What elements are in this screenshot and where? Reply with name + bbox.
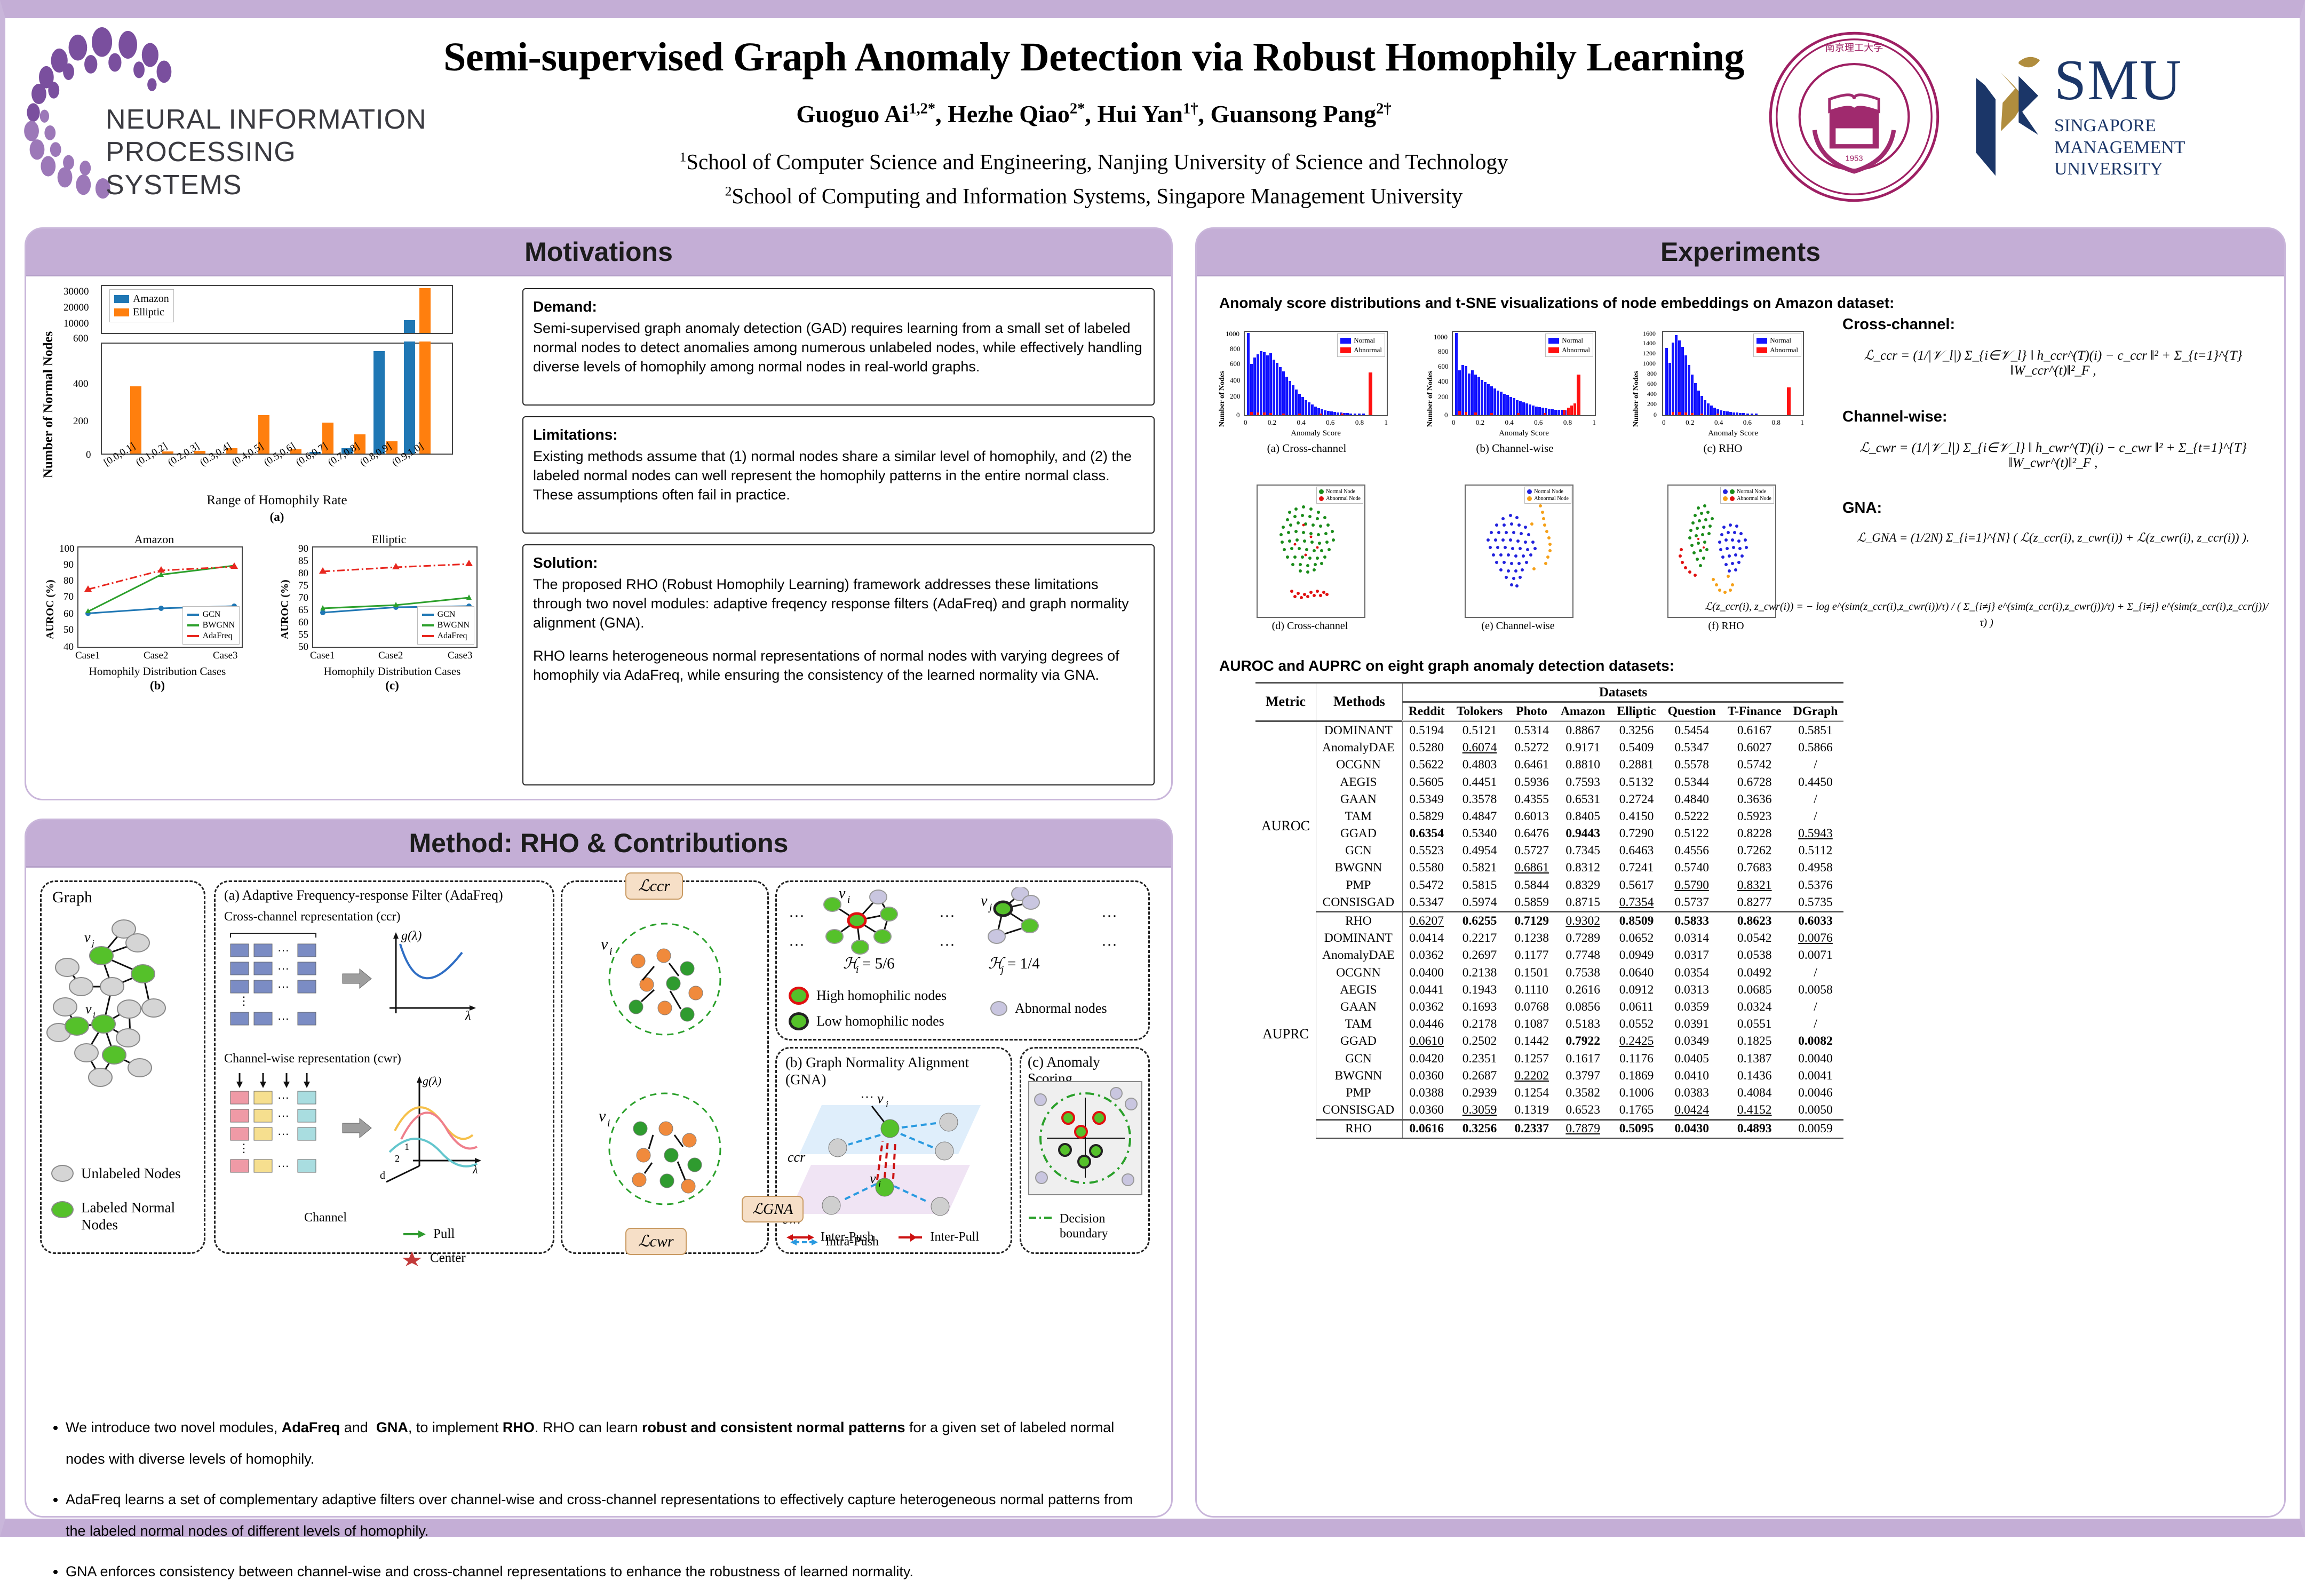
note-demand-heading: Demand: xyxy=(533,297,1144,316)
th-tolokers: Tolokers xyxy=(1451,702,1509,721)
amazon-xtick-1: Case2 xyxy=(144,650,168,662)
table-cell: 0.7922 xyxy=(1555,1033,1611,1050)
table-cell: 0.0360 xyxy=(1402,1102,1450,1120)
svg-text:1: 1 xyxy=(404,1141,409,1152)
svg-text:j: j xyxy=(91,938,94,948)
th-photo: Photo xyxy=(1508,702,1555,721)
bar-lower-axes xyxy=(101,343,453,455)
amazon-caption: (b) xyxy=(67,679,248,693)
table-row: GAAN0.03620.16930.07680.08560.06110.0359… xyxy=(1255,998,1843,1015)
table-cell: 0.7748 xyxy=(1555,947,1611,964)
table-cell: 0.7683 xyxy=(1722,860,1787,877)
table-cell: 0.7593 xyxy=(1555,774,1611,791)
table-cell: 0.0046 xyxy=(1787,1084,1844,1101)
note-limitations-body: Existing methods assume that (1) normal … xyxy=(533,447,1144,505)
table-cell: 0.9171 xyxy=(1555,740,1611,757)
th-question: Question xyxy=(1662,702,1722,721)
table-cell: 0.0071 xyxy=(1787,947,1844,964)
svg-text:v: v xyxy=(870,1171,876,1186)
cwr-matrix-icon: ······ ······ ⋮ xyxy=(226,1072,333,1189)
table-row: GCN0.04200.23510.12570.16170.11760.04050… xyxy=(1255,1050,1843,1067)
gna-illustration: ccr cwr ··· v i v i xyxy=(780,1092,1010,1236)
table-cell: 0.8810 xyxy=(1555,757,1611,774)
table-cell: 0.3797 xyxy=(1555,1067,1611,1084)
table-metric-cell: AUPRC xyxy=(1255,930,1316,1139)
table-cell: 0.8329 xyxy=(1555,877,1611,894)
loss-ccr-badge: ℒccr xyxy=(625,872,683,900)
table-method-name: TAM xyxy=(1316,1016,1403,1033)
table-cell: 0.0430 xyxy=(1662,1119,1722,1138)
chart-tsne-channel-wise: Normal Node Abnormal Node xyxy=(1465,485,1573,618)
legend-item-elliptic: Elliptic xyxy=(114,306,169,319)
hist-b-legend: Normal Abnormal xyxy=(1545,334,1593,357)
pull-arrow-icon xyxy=(402,1227,427,1241)
table-cell: 0.8321 xyxy=(1722,877,1787,894)
table-cell: / xyxy=(1787,998,1844,1015)
table-cell: 0.5844 xyxy=(1508,877,1555,894)
table-cell: / xyxy=(1787,808,1844,825)
table-cell: 0.0388 xyxy=(1402,1084,1450,1101)
hist-c-ytick-1600: 1600 xyxy=(1643,330,1656,338)
table-cell: 0.0059 xyxy=(1787,1119,1844,1138)
elliptic-ytick-60: 60 xyxy=(298,617,308,629)
table-cell: 0.0420 xyxy=(1402,1050,1450,1067)
svg-text:···: ··· xyxy=(939,935,955,953)
table-cell: / xyxy=(1787,791,1844,808)
table-method-name: TAM xyxy=(1316,808,1403,825)
table-cell: 0.5617 xyxy=(1611,877,1662,894)
institution-logos: 1953 南京理工大学 SMU SINGAPORE MANAGEMENT UNI… xyxy=(1755,26,2289,207)
table-cell: 0.7290 xyxy=(1611,825,1662,843)
elliptic-ytick-55: 55 xyxy=(298,629,308,641)
table-cell: 0.6167 xyxy=(1722,721,1787,739)
hist-c-ytick-1400: 1400 xyxy=(1643,339,1656,347)
svg-text:···: ··· xyxy=(1101,935,1117,953)
table-cell: / xyxy=(1787,964,1844,981)
hist-c-ytick-1000: 1000 xyxy=(1643,360,1656,368)
table-cell: 0.3256 xyxy=(1451,1119,1509,1138)
table-cell: 0.0383 xyxy=(1662,1084,1722,1101)
table-row: RHO0.06160.32560.23370.78790.50950.04300… xyxy=(1255,1119,1843,1138)
cwr-filter-plot: g(λ) λ 1 2 d xyxy=(379,1072,486,1184)
table-method-name: BWGNN xyxy=(1316,1067,1403,1084)
eq-ccr: ℒ_ccr = (1/|𝒱_l|) Σ_{i∈𝒱_l} ‖ h_ccr^(T)(… xyxy=(1842,347,2264,378)
chart-amazon-auroc: Amazon AUROC (%) GCN xyxy=(42,533,266,693)
legend-labeled-nodes: Labeled Normal Nodes xyxy=(51,1199,188,1234)
elliptic-xtick-1: Case2 xyxy=(378,650,403,662)
experiments-subtitle-table: AUROC and AUPRC on eight graph anomaly d… xyxy=(1219,657,1674,674)
hist-b-ytick-400: 400 xyxy=(1438,377,1449,386)
hist-b-xlabel: Anomaly Score xyxy=(1452,429,1596,438)
hist-c-ylabel: Number of Nodes xyxy=(1632,371,1641,427)
svg-text:g(λ): g(λ) xyxy=(423,1074,441,1087)
contribution-item-2: AdaFreq learns a set of complementary ad… xyxy=(66,1484,1147,1547)
table-cell: 0.2217 xyxy=(1451,930,1509,947)
table-cell: 0.5605 xyxy=(1402,774,1450,791)
table-cell: 0.7262 xyxy=(1722,843,1787,860)
arrow-right-icon-1 xyxy=(341,967,373,989)
table-cell: 0.0611 xyxy=(1611,998,1662,1015)
table-cell: 0.0912 xyxy=(1611,981,1662,998)
panel-motivations-title: Motivations xyxy=(26,229,1171,276)
table-cell: 0.8277 xyxy=(1722,894,1787,912)
elliptic-ytick-75: 75 xyxy=(298,580,308,592)
table-metric-cell: AUROC xyxy=(1255,721,1316,930)
table-cell: 0.8715 xyxy=(1555,894,1611,912)
svg-text:v: v xyxy=(601,935,608,953)
contribution-item-3: GNA enforces consistency between channel… xyxy=(66,1556,1147,1587)
legend-center: Center xyxy=(402,1250,466,1266)
table-method-name: CONSISGAD xyxy=(1316,894,1403,912)
table-row: BWGNN0.55800.58210.68610.83120.72410.574… xyxy=(1255,860,1843,877)
note-limitations: Limitations: Existing methods assume tha… xyxy=(522,416,1155,534)
table-cell: 0.9443 xyxy=(1555,825,1611,843)
legend-item-adafreq-e: AdaFreq xyxy=(422,631,470,641)
table-cell: 0.6523 xyxy=(1555,1102,1611,1120)
table-body: AUROCDOMINANT0.51940.51210.53140.88670.3… xyxy=(1255,721,1843,1138)
th-datasets-group: Datasets xyxy=(1402,683,1843,702)
th-amazon: Amazon xyxy=(1555,702,1611,721)
svg-text:···: ··· xyxy=(277,1127,289,1140)
legend-tsne-normal-d: Normal Node xyxy=(1319,489,1361,495)
elliptic-y-label: AUROC (%) xyxy=(279,579,291,639)
table-cell: 0.2724 xyxy=(1611,791,1662,808)
chart-homophily-histogram: Number of Normal Nodes Amazon Elliptic 3… xyxy=(38,280,486,530)
svg-text:···: ··· xyxy=(277,962,289,975)
chart-tsne-rho: Normal Node Abnormal Node xyxy=(1667,485,1776,618)
table-cell: 0.1617 xyxy=(1555,1050,1611,1067)
table-cell: 0.1238 xyxy=(1508,930,1555,947)
svg-text:d: d xyxy=(380,1170,385,1181)
table-cell: 0.0354 xyxy=(1662,964,1722,981)
contributions-list: We introduce two novel modules, AdaFreq … xyxy=(47,1412,1147,1596)
svg-text:···: ··· xyxy=(789,935,805,953)
table-cell: 0.1693 xyxy=(1451,998,1509,1015)
diagram-scoring-box: (c) Anomaly Scoring xyxy=(1020,1047,1150,1254)
ccr-plane-label: ccr xyxy=(788,1149,806,1165)
table-row: AUPRCDOMINANT0.04140.22170.12380.72890.0… xyxy=(1255,930,1843,947)
amazon-chart-title: Amazon xyxy=(42,533,266,546)
hist-a-ytick-600: 600 xyxy=(1230,360,1241,368)
table-cell: 0.1257 xyxy=(1508,1050,1555,1067)
table-method-name: CONSISGAD xyxy=(1316,1102,1403,1120)
table-cell: 0.5523 xyxy=(1402,843,1450,860)
table-cell: 0.8867 xyxy=(1555,721,1611,739)
homophily-examples: ······ ······ ······ xyxy=(779,887,1147,983)
table-cell: 0.8312 xyxy=(1555,860,1611,877)
svg-text:···: ··· xyxy=(277,980,289,993)
table-row: GCN0.55230.49540.57270.73450.64630.45560… xyxy=(1255,843,1843,860)
svg-text:⋮: ⋮ xyxy=(238,994,250,1007)
table-cell: 0.5829 xyxy=(1402,808,1450,825)
table-cell: 0.5272 xyxy=(1508,740,1555,757)
table-cell: 0.3636 xyxy=(1722,791,1787,808)
table-cell: 0.5314 xyxy=(1508,721,1555,739)
tsne-f-legend: Normal Node Abnormal Node xyxy=(1720,487,1774,504)
smu-wordmark: SMU SINGAPORE MANAGEMENT UNIVERSITY xyxy=(2054,52,2289,180)
svg-text:1953: 1953 xyxy=(1845,155,1863,163)
legend-item-bwgnn-e: BWGNN xyxy=(422,621,470,630)
hist-b-ytick-1000: 1000 xyxy=(1434,333,1448,342)
svg-text:i: i xyxy=(609,946,613,957)
table-cell: 0.0552 xyxy=(1611,1016,1662,1033)
graph-box-title: Graph xyxy=(52,888,92,907)
hist-b-ytick-200: 200 xyxy=(1438,393,1449,401)
svg-text:λ: λ xyxy=(472,1163,478,1176)
th-reddit: Reddit xyxy=(1402,702,1450,721)
svg-text:v: v xyxy=(981,893,988,909)
table-cell: 0.0317 xyxy=(1662,947,1722,964)
table-row: CONSISGAD0.53470.59740.58590.87150.73540… xyxy=(1255,894,1843,912)
table-row: AEGIS0.56050.44510.59360.75930.51320.534… xyxy=(1255,774,1843,791)
hist-c-caption: (c) RHO xyxy=(1632,442,1814,455)
table-row: PMP0.03880.29390.12540.35820.10060.03830… xyxy=(1255,1084,1843,1101)
elliptic-ytick-85: 85 xyxy=(298,555,308,567)
table-cell: 0.1943 xyxy=(1451,981,1509,998)
table-cell: 0.6074 xyxy=(1451,740,1509,757)
table-cell: 0.5740 xyxy=(1662,860,1722,877)
table-method-name: OCGNN xyxy=(1316,964,1403,981)
neurips-logo-text: NEURAL INFORMATION PROCESSING SYSTEMS xyxy=(106,104,431,202)
table-cell: 0.5735 xyxy=(1787,894,1844,912)
legend-abnormal-nodes: Abnormal nodes xyxy=(990,1001,1107,1017)
elliptic-ytick-50: 50 xyxy=(298,641,308,653)
loss-cwr-badge: ℒcwr xyxy=(625,1228,687,1255)
results-table: Metric Methods Datasets Reddit Tolokers … xyxy=(1255,682,1843,1139)
tsne-e-caption: (e) Channel-wise xyxy=(1424,620,1612,632)
hist-c-ytick-400: 400 xyxy=(1647,390,1657,398)
legend-decision-boundary: Decision boundary xyxy=(1028,1212,1140,1241)
bar-amazon-0.9-1.0 xyxy=(404,342,415,454)
table-cell: 0.1387 xyxy=(1722,1050,1787,1067)
bar-legend: Amazon Elliptic xyxy=(109,289,174,322)
elliptic-xtick-2: Case3 xyxy=(448,650,472,662)
bar-ytick-400: 400 xyxy=(73,378,89,390)
histogram-row: Number of Nodes xyxy=(1211,325,1830,470)
table-cell: 0.7289 xyxy=(1555,930,1611,947)
hist-b-ytick-0: 0 xyxy=(1444,411,1448,419)
table-cell: 0.6033 xyxy=(1787,912,1844,930)
svg-text:···: ··· xyxy=(277,1109,289,1122)
hist-c-ytick-0: 0 xyxy=(1654,411,1657,419)
table-cell: 0.2178 xyxy=(1451,1016,1509,1033)
table-cell: 0.4803 xyxy=(1451,757,1509,774)
table-cell: 0.5742 xyxy=(1722,757,1787,774)
table-cell: 0.5347 xyxy=(1662,740,1722,757)
table-row: BWGNN0.03600.26870.22020.37970.18690.041… xyxy=(1255,1067,1843,1084)
table-cell: 0.0324 xyxy=(1722,998,1787,1015)
svg-text:v: v xyxy=(877,1092,884,1106)
tsne-d-points xyxy=(1258,486,1362,615)
table-method-name: AnomalyDAE xyxy=(1316,947,1403,964)
table-method-name: DOMINANT xyxy=(1316,930,1403,947)
svg-text:= 1/4: = 1/4 xyxy=(1007,955,1040,972)
hist-a-ytick-400: 400 xyxy=(1230,376,1241,385)
legend-inter-pull: Inter-Pull xyxy=(895,1230,980,1244)
table-cell: 0.4893 xyxy=(1722,1119,1787,1138)
svg-text:···: ··· xyxy=(277,943,289,957)
graph-illustration: v j v i xyxy=(44,908,204,1153)
table-cell: 0.0362 xyxy=(1402,947,1450,964)
bar-upper-axes: Amazon Elliptic xyxy=(101,285,453,334)
bar-ytick-0: 0 xyxy=(86,449,91,461)
svg-text:2: 2 xyxy=(395,1153,400,1164)
table-cell: 0.5344 xyxy=(1662,774,1722,791)
table-cell: 0.0050 xyxy=(1787,1102,1844,1120)
bar-y-axis-label: Number of Normal Nodes xyxy=(41,331,56,478)
table-cell: 0.0362 xyxy=(1402,998,1450,1015)
table-cell: 0.5454 xyxy=(1662,721,1722,739)
table-cell: 0.6463 xyxy=(1611,843,1662,860)
amazon-y-label: AUROC (%) xyxy=(44,579,57,639)
table-cell: 0.0082 xyxy=(1787,1033,1844,1050)
table-method-name: GAAN xyxy=(1316,998,1403,1015)
amazon-ytick-80: 80 xyxy=(63,575,74,587)
legend-tsne-normal-e: Normal Node xyxy=(1527,489,1569,495)
neurips-logo: NEURAL INFORMATION PROCESSING SYSTEMS xyxy=(10,23,431,210)
amazon-x-label: Homophily Distribution Cases xyxy=(67,665,248,678)
equations-block: Cross-channel: ℒ_ccr = (1/|𝒱_l|) Σ_{i∈𝒱_… xyxy=(1842,316,2264,545)
table-row: GAAN0.53490.35780.43550.65310.27240.4840… xyxy=(1255,791,1843,808)
th-dgraph: DGraph xyxy=(1787,702,1844,721)
hist-a-xlabel: Anomaly Score xyxy=(1244,429,1388,438)
table-cell: 0.0424 xyxy=(1662,1102,1722,1120)
svg-text:···: ··· xyxy=(860,1092,874,1104)
ccr-title: Cross-channel representation (ccr) xyxy=(224,910,401,924)
table-cell: 0.4847 xyxy=(1451,808,1509,825)
table-cell: 0.0076 xyxy=(1787,930,1844,947)
svg-text:v: v xyxy=(599,1107,606,1125)
table-cell: 0.4150 xyxy=(1611,808,1662,825)
table-cell: 0.0551 xyxy=(1722,1016,1787,1033)
table-cell: 0.1765 xyxy=(1611,1102,1662,1120)
njust-logo: 1953 南京理工大学 xyxy=(1766,29,1942,205)
table-cell: 0.6027 xyxy=(1722,740,1787,757)
svg-text:···: ··· xyxy=(789,907,805,924)
table-cell: 0.2337 xyxy=(1508,1119,1555,1138)
poster-header: NEURAL INFORMATION PROCESSING SYSTEMS Se… xyxy=(5,18,2300,215)
table-method-name: OCGNN xyxy=(1316,757,1403,774)
hist-a-ytick-800: 800 xyxy=(1230,345,1241,353)
table-cell: / xyxy=(1787,1016,1844,1033)
bar-ytick-600: 600 xyxy=(73,333,89,345)
table-cell: 0.7241 xyxy=(1611,860,1662,877)
table-method-name: BWGNN xyxy=(1316,860,1403,877)
legend-high-homophilic: High homophilic nodes xyxy=(789,987,947,1005)
eq-gna: ℒ_GNA = (1/2N) Σ_{i=1}^{N} ( ℒ(z_ccr(i),… xyxy=(1842,531,2264,545)
bar-ytick-20000: 20000 xyxy=(63,302,89,314)
tsne-d-legend: Normal Node Abnormal Node xyxy=(1316,487,1363,504)
hist-c-xticks: 00.20.4 0.60.81 xyxy=(1662,418,1804,427)
hist-a-ylabel: Number of Nodes xyxy=(1218,371,1227,427)
table-cell: 0.2138 xyxy=(1451,964,1509,981)
panel-motivations-body: Number of Normal Nodes Amazon Elliptic 3… xyxy=(26,276,1171,800)
svg-text:···: ··· xyxy=(277,1012,289,1025)
svg-text:···: ··· xyxy=(1101,907,1117,924)
amazon-ytick-70: 70 xyxy=(63,591,74,603)
table-cell: 0.5194 xyxy=(1402,721,1450,739)
table-header-group: Metric Methods Datasets xyxy=(1255,683,1843,702)
table-cell: 0.7354 xyxy=(1611,894,1662,912)
hist-b-ylabel: Number of Nodes xyxy=(1426,371,1435,427)
note-solution-body: The proposed RHO (Robust Homophily Learn… xyxy=(533,575,1144,633)
note-solution-heading: Solution: xyxy=(533,553,1144,573)
bar-elliptic-0.9-1.0 xyxy=(419,342,431,454)
elliptic-ytick-80: 80 xyxy=(298,568,308,579)
unlabeled-node-icon xyxy=(51,1165,74,1182)
contribution-item-1: We introduce two novel modules, AdaFreq … xyxy=(66,1412,1147,1475)
elliptic-legend: GCN BWGNN AdaFreq xyxy=(417,606,474,645)
table-cell: 0.5622 xyxy=(1402,757,1450,774)
table-cell: 0.5409 xyxy=(1611,740,1662,757)
table-cell: 0.0616 xyxy=(1402,1119,1450,1138)
chart-hist-cross-channel: Number of Nodes xyxy=(1216,325,1397,470)
legend-item-adafreq: AdaFreq xyxy=(187,631,235,641)
hist-a-xticks: 00.20.4 0.60.81 xyxy=(1244,418,1388,427)
affiliation-2: 2School of Computing and Information Sys… xyxy=(432,180,1755,211)
table-cell: 0.6531 xyxy=(1555,791,1611,808)
table-cell: 0.6013 xyxy=(1508,808,1555,825)
note-demand: Demand: Semi-supervised graph anomaly de… xyxy=(522,288,1155,406)
table-row: AEGIS0.04410.19430.11100.26160.09120.031… xyxy=(1255,981,1843,998)
table-cell: 0.4954 xyxy=(1451,843,1509,860)
table-cell: 0.2881 xyxy=(1611,757,1662,774)
table-method-name: GCN xyxy=(1316,843,1403,860)
hist-c-ytick-600: 600 xyxy=(1647,380,1657,388)
svg-text:i: i xyxy=(93,1010,96,1020)
note-demand-body: Semi-supervised graph anomaly detection … xyxy=(533,319,1144,377)
table-cell: 0.0492 xyxy=(1722,964,1787,981)
svg-text:i: i xyxy=(607,1117,610,1129)
table-cell: 0.5737 xyxy=(1662,894,1722,912)
hist-a-ytick-1000: 1000 xyxy=(1226,330,1239,338)
diagram-adafreq-box: (a) Adaptive Frequency-response Filter (… xyxy=(214,880,554,1254)
th-elliptic: Elliptic xyxy=(1611,702,1662,721)
table-row: PMP0.54720.58150.58440.83290.56170.57900… xyxy=(1255,877,1843,894)
table-cell: 0.5580 xyxy=(1402,860,1450,877)
table-cell: 0.8509 xyxy=(1611,912,1662,930)
bar-ytick-30000: 30000 xyxy=(63,286,89,298)
hist-a-ytick-0: 0 xyxy=(1236,411,1240,419)
hist-c-xlabel: Anomaly Score xyxy=(1662,429,1804,438)
cwr-embedding-space: v i xyxy=(574,1079,756,1218)
hist-b-ytick-800: 800 xyxy=(1438,347,1449,356)
hist-c-ytick-200: 200 xyxy=(1647,400,1657,408)
eq-cwr: ℒ_cwr = (1/|𝒱_l|) Σ_{i∈𝒱_l} ‖ h_cwr^(T)(… xyxy=(1842,440,2264,471)
affiliation-1: 1School of Computer Science and Engineer… xyxy=(432,146,1755,177)
table-cell: 0.5790 xyxy=(1662,877,1722,894)
legend-unlabeled-nodes: Unlabeled Nodes xyxy=(51,1165,181,1182)
table-cell: 0.5112 xyxy=(1787,843,1844,860)
chart-hist-rho: Number of Nodes xyxy=(1632,325,1814,470)
hist-b-xticks: 00.20.4 0.60.81 xyxy=(1452,418,1596,427)
table-cell: 0.2697 xyxy=(1451,947,1509,964)
table-cell: 0.0314 xyxy=(1662,930,1722,947)
diagram-homophily-box: ······ ······ ······ xyxy=(775,880,1150,1041)
amazon-ytick-90: 90 xyxy=(63,559,74,571)
amazon-ytick-60: 60 xyxy=(63,608,74,620)
table-cell: 0.6354 xyxy=(1402,825,1450,843)
eq-infonce: ℒ(z_ccr(i), z_cwr(i)) = − log e^(sim(z_c… xyxy=(1704,599,2269,631)
table-method-name: GGAD xyxy=(1316,825,1403,843)
bar-ytick-10000: 10000 xyxy=(63,318,89,330)
table-cell: 0.8623 xyxy=(1722,912,1787,930)
bar-xtick-row: [0.0,0.1] (0.1,0.2] (0.2,0.3] (0.3,0.4] … xyxy=(101,457,453,490)
table-cell: 0.1501 xyxy=(1508,964,1555,981)
svg-text:i: i xyxy=(886,1099,888,1109)
table-cell: 0.5815 xyxy=(1451,877,1509,894)
legend-item-gcn-e: GCN xyxy=(422,610,470,620)
